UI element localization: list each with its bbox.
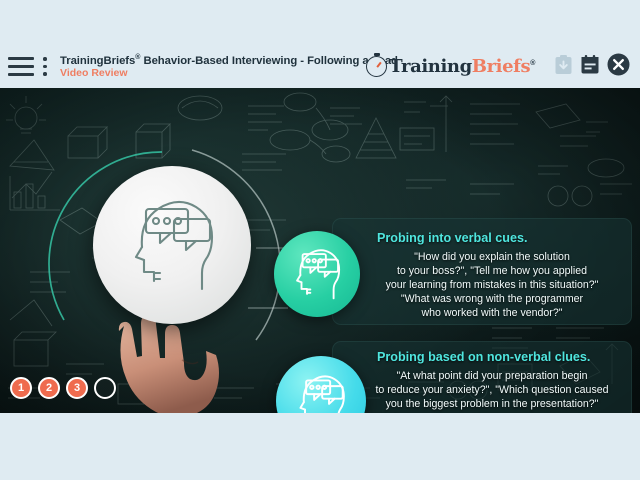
progress-dot-4-current[interactable]: [94, 377, 116, 399]
title-block: TrainingBriefs® Behavior-Based Interview…: [60, 54, 366, 79]
progress-dot-3[interactable]: 3: [66, 377, 88, 399]
close-icon[interactable]: [607, 53, 630, 81]
chrome-top-fill: [0, 0, 640, 45]
hamburger-menu-icon[interactable]: [8, 57, 34, 76]
player-footer: [0, 413, 640, 480]
subtitle-video-review: Video Review: [60, 68, 366, 79]
head-speech-bubble-icon: [116, 189, 228, 301]
hamburger-line: [8, 57, 34, 60]
panel-body-verbal: "How did you explain the solution to you…: [347, 250, 637, 320]
logo-registered-mark: ®: [530, 60, 535, 67]
page-title: TrainingBriefs® Behavior-Based Interview…: [60, 54, 366, 67]
player-header: TrainingBriefs® Behavior-Based Interview…: [0, 45, 640, 88]
stopwatch-icon: [366, 56, 387, 77]
head-speech-bubble-icon: [289, 369, 353, 413]
course-title-rest: Behavior-Based Interviewing - Following …: [140, 55, 398, 67]
progress-dot-1[interactable]: 1: [10, 377, 32, 399]
head-speech-bubble-icon: [286, 243, 348, 305]
panel-heading-verbal: Probing into verbal cues.: [377, 231, 527, 245]
download-icon[interactable]: [554, 54, 573, 80]
trainingbriefs-logo: TrainingBriefs®: [366, 56, 535, 77]
elearning-player: TrainingBriefs® Behavior-Based Interview…: [0, 0, 640, 480]
main-badge-circle: [93, 166, 251, 324]
main-visual: [48, 138, 308, 413]
slide-canvas[interactable]: Probing into verbal cues. "How did you e…: [0, 88, 640, 413]
logo-word-briefs: Briefs: [472, 56, 530, 77]
progress-dots: 1 2 3: [10, 377, 116, 399]
kebab-menu-icon[interactable]: [39, 57, 51, 76]
panel-heading-nonverbal: Probing based on non-verbal clues.: [377, 350, 590, 364]
kebab-dot: [43, 65, 47, 69]
kebab-dot: [43, 72, 47, 76]
logo-word-training: Training: [389, 56, 471, 77]
course-title-brand: TrainingBriefs: [60, 55, 135, 67]
hamburger-line: [8, 73, 34, 76]
panel-body-nonverbal: "At what point did your preparation begi…: [347, 369, 637, 413]
kebab-dot: [43, 57, 47, 61]
hamburger-line: [8, 65, 34, 68]
progress-dot-2[interactable]: 2: [38, 377, 60, 399]
notes-icon[interactable]: [580, 54, 600, 80]
